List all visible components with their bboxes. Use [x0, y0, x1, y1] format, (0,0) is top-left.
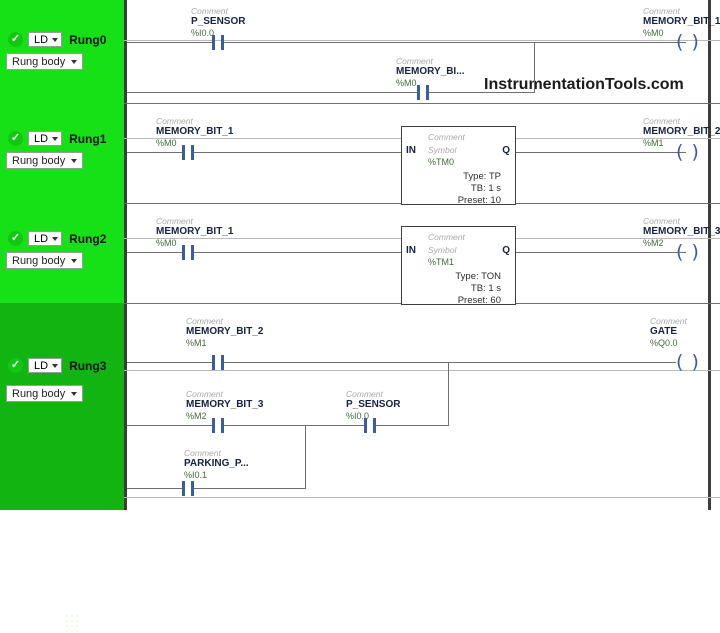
rung0-branch-wire — [429, 92, 534, 93]
coil-label-memory-bit-1: Comment MEMORY_BIT_1 %M0 — [643, 6, 720, 39]
rung-language-select-rung1[interactable]: LD — [28, 131, 62, 146]
timer-type: Type: TP — [463, 171, 501, 182]
coil-label-memory-bit-2: Comment MEMORY_BIT_2 %M1 — [643, 116, 720, 149]
rung0-wire — [224, 42, 664, 43]
timer-preset: Preset: 60 — [458, 295, 501, 306]
coil-comment: Comment — [643, 216, 720, 226]
coil-address: %M0 — [643, 28, 720, 39]
timer-timebase: TB: 1 s — [471, 283, 501, 294]
rung3-branch1-wire — [127, 425, 212, 426]
timer-block-tm1[interactable]: IN Q Comment Symbol %TM1 Type: TON TB: 1… — [401, 226, 516, 305]
rung-body-label-rung1: Rung body — [12, 155, 65, 167]
rung-language-label-rung1: LD — [34, 133, 48, 145]
rung-body-select-rung3[interactable]: Rung body — [6, 385, 83, 402]
rung-title-rung3: Rung3 — [69, 359, 106, 373]
contact-label-memory-bit-1-rung2: Comment MEMORY_BIT_1 %M0 — [156, 216, 233, 249]
contact-comment: Comment — [186, 316, 263, 326]
rung-enable-checkbox-rung0[interactable]: ✓ — [8, 32, 23, 47]
timer-symbol: Symbol — [428, 245, 456, 255]
rung1-wire — [516, 152, 664, 153]
rung2-wire — [194, 252, 401, 253]
rung1-wire — [127, 152, 182, 153]
chevron-down-icon — [71, 159, 77, 163]
rung-enable-checkbox-rung3[interactable]: ✓ — [8, 358, 23, 373]
contact-comment: Comment — [186, 389, 263, 399]
chevron-down-icon — [52, 237, 58, 241]
coil-comment: Comment — [643, 6, 720, 16]
contact-name: MEMORY_BIT_2 — [186, 326, 263, 338]
timer-type: Type: TON — [455, 271, 501, 282]
contact-address: %I0.1 — [184, 470, 249, 481]
rung-body-select-rung2[interactable]: Rung body — [6, 252, 83, 269]
contact-comment: Comment — [156, 116, 233, 126]
rung0-branch-riser — [534, 42, 535, 93]
rung3-branch1-riser — [448, 362, 449, 426]
chevron-down-icon — [52, 137, 58, 141]
chevron-down-icon — [52, 38, 58, 42]
rung2-wire — [516, 252, 664, 253]
contact-comment: Comment — [346, 389, 400, 399]
coil-name: GATE — [650, 326, 687, 338]
timer-timebase: TB: 1 s — [471, 183, 501, 194]
rung-body-label-rung2: Rung body — [12, 255, 65, 267]
rung-body-select-rung0[interactable]: Rung body — [6, 53, 83, 70]
timer-comment: Comment — [428, 232, 465, 242]
rung-enable-checkbox-rung2[interactable]: ✓ — [8, 231, 23, 246]
coil-address: %Q0.0 — [650, 338, 687, 349]
contact-label-memory-bit-rung0-branch: Comment MEMORY_BI... %M0 — [396, 56, 465, 89]
rung3-wire — [127, 362, 212, 363]
coil-comment: Comment — [650, 316, 687, 326]
contact-address: %I0.0 — [346, 411, 400, 422]
coil-label-gate: Comment GATE %Q0.0 — [650, 316, 687, 349]
contact-comment: Comment — [191, 6, 245, 16]
contact-label-p-sensor-rung3: Comment P_SENSOR %I0.0 — [346, 389, 400, 422]
coil-name: MEMORY_BIT_3 — [643, 226, 720, 238]
ladder-canvas[interactable]: InstrumentationTools.com Comment P_SENSO… — [124, 0, 720, 510]
timer-address: %TM1 — [428, 257, 454, 267]
rung-grid-line — [124, 497, 720, 498]
contact-address: %M1 — [186, 338, 263, 349]
rung-header-rung1[interactable]: ✓ LD Rung1 Rung body — [0, 103, 124, 203]
contact-name: MEMORY_BIT_3 — [186, 399, 263, 411]
rung-body-select-rung1[interactable]: Rung body — [6, 152, 83, 169]
contact-comment: Comment — [184, 448, 249, 458]
coil-gate[interactable]: ( ) — [676, 353, 700, 372]
contact-label-memory-bit-3-rung3: Comment MEMORY_BIT_3 %M2 — [186, 389, 263, 422]
contact-label-parking-p-rung3: Comment PARKING_P... %I0.1 — [184, 448, 249, 481]
rung-title-rung1: Rung1 — [69, 132, 106, 146]
timer-address: %TM0 — [428, 157, 454, 167]
contact-address: %I0.0 — [191, 28, 245, 39]
rung-language-label-rung3: LD — [34, 360, 48, 372]
chevron-down-icon — [71, 392, 77, 396]
coil-name: MEMORY_BIT_2 — [643, 126, 720, 138]
timer-in-label: IN — [406, 245, 416, 256]
rung-title-rung0: Rung0 — [69, 33, 106, 47]
contact-label-p-sensor-rung0: Comment P_SENSOR %I0.0 — [191, 6, 245, 39]
contact-name: P_SENSOR — [191, 16, 245, 28]
rung-header-rung2[interactable]: ✓ LD Rung2 Rung body — [0, 203, 124, 303]
timer-comment: Comment — [428, 132, 465, 142]
rung-language-select-rung3[interactable]: LD — [28, 358, 62, 373]
contact-comment: Comment — [396, 56, 465, 66]
rung3-branch2-wire — [194, 488, 305, 489]
contact-address: %M2 — [186, 411, 263, 422]
rung3-branch2-wire — [127, 488, 182, 489]
contact-name: MEMORY_BIT_1 — [156, 126, 233, 138]
rung-body-label-rung3: Rung body — [12, 388, 65, 400]
contact-label-memory-bit-1-rung1: Comment MEMORY_BIT_1 %M0 — [156, 116, 233, 149]
timer-in-label: IN — [406, 145, 416, 156]
contact-name: MEMORY_BI... — [396, 66, 465, 78]
rung3-branch1-wire — [376, 425, 448, 426]
rung3-branch2-riser — [305, 425, 306, 489]
coil-comment: Comment — [643, 116, 720, 126]
contact-name: PARKING_P... — [184, 458, 249, 470]
contact-label-memory-bit-2-rung3: Comment MEMORY_BIT_2 %M1 — [186, 316, 263, 349]
chevron-down-icon — [71, 259, 77, 263]
left-power-rail — [124, 0, 127, 510]
timer-block-tm0[interactable]: IN Q Comment Symbol %TM0 Type: TP TB: 1 … — [401, 126, 516, 205]
coil-address: %M2 — [643, 238, 720, 249]
rung-title-rung2: Rung2 — [69, 232, 106, 246]
rung2-wire — [127, 252, 182, 253]
rung0-wire — [127, 42, 212, 43]
contact-address: %M0 — [156, 238, 233, 249]
contact-name: P_SENSOR — [346, 399, 400, 411]
rung3-wire — [224, 362, 676, 363]
timer-symbol: Symbol — [428, 145, 456, 155]
timer-preset: Preset: 10 — [458, 195, 501, 206]
chevron-down-icon — [71, 60, 77, 64]
rung-language-label-rung2: LD — [34, 233, 48, 245]
rung1-wire — [194, 152, 401, 153]
contact-comment: Comment — [156, 216, 233, 226]
chevron-down-icon — [52, 364, 58, 368]
ladder-editor: ✓ LD Rung0 Rung body ✓ LD Rung1 — [0, 0, 720, 510]
rung-language-label-rung0: LD — [34, 34, 48, 46]
right-power-rail — [708, 0, 711, 510]
rung-enable-checkbox-rung1[interactable]: ✓ — [8, 131, 23, 146]
contact-name: MEMORY_BIT_1 — [156, 226, 233, 238]
rung3-branch1-wire — [224, 425, 364, 426]
coil-label-memory-bit-3: Comment MEMORY_BIT_3 %M2 — [643, 216, 720, 249]
coil-name: MEMORY_BIT_1 — [643, 16, 720, 28]
contact-address: %M0 — [396, 78, 465, 89]
rung-header-column: ✓ LD Rung0 Rung body ✓ LD Rung1 — [0, 0, 124, 510]
timer-q-label: Q — [502, 145, 510, 156]
rung-header-rung0[interactable]: ✓ LD Rung0 Rung body — [0, 0, 124, 103]
contact-address: %M0 — [156, 138, 233, 149]
drag-grip-icon — [66, 615, 80, 633]
coil-address: %M1 — [643, 138, 720, 149]
timer-q-label: Q — [502, 245, 510, 256]
rung-separator — [124, 103, 720, 104]
rung-grid-line — [124, 370, 720, 371]
rung-language-select-rung0[interactable]: LD — [28, 32, 62, 47]
rung-body-label-rung0: Rung body — [12, 56, 65, 68]
rung-language-select-rung2[interactable]: LD — [28, 231, 62, 246]
rung0-branch-wire — [127, 92, 417, 93]
rung-header-rung3[interactable]: ✓ LD Rung3 Rung body — [0, 303, 124, 510]
